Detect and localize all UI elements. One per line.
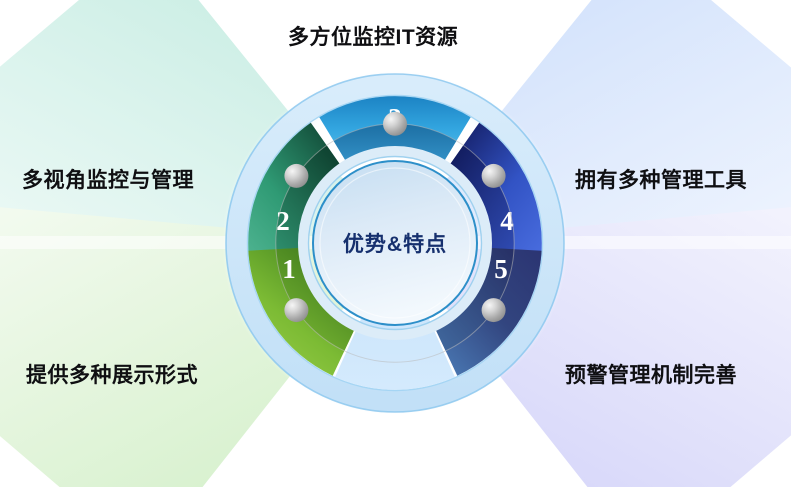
marker-3[interactable]	[383, 112, 407, 136]
label-left-lower: 提供多种展示形式	[26, 365, 198, 386]
segment-1-number: 1	[282, 254, 296, 284]
label-right-lower: 预警管理机制完善	[565, 365, 737, 386]
marker-5[interactable]	[482, 298, 506, 322]
center-label: 优势&特点	[343, 232, 447, 256]
segment-5-number: 5	[494, 254, 508, 284]
label-left-upper: 多视角监控与管理	[22, 170, 194, 191]
label-right-upper: 拥有多种管理工具	[575, 170, 747, 191]
marker-1[interactable]	[284, 298, 308, 322]
infographic-canvas: 3 2 1 4	[0, 0, 791, 487]
marker-2[interactable]	[284, 164, 308, 188]
marker-4[interactable]	[482, 164, 506, 188]
label-top: 多方位监控IT资源	[288, 27, 458, 48]
wheel-diagram: 3 2 1 4	[0, 0, 791, 487]
